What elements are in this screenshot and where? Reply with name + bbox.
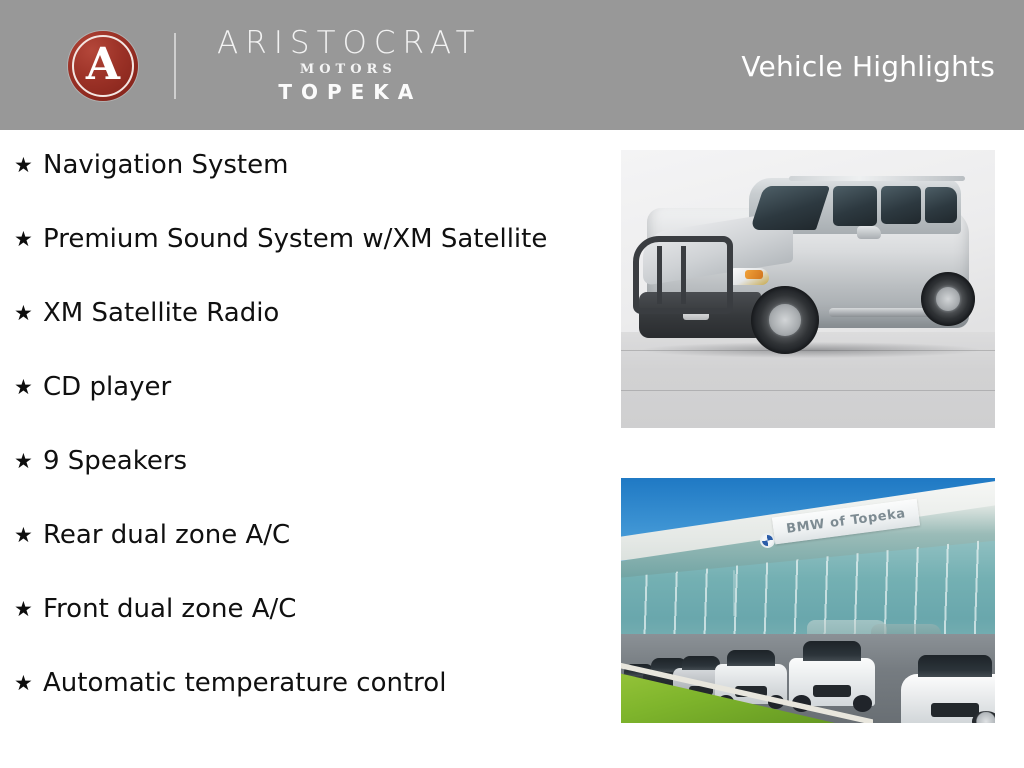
dealer-logo: A ARISTOCRAT MOTORS TOPEKA — [68, 30, 482, 102]
wordmark-motors: MOTORS — [295, 60, 397, 80]
side-mirror — [857, 226, 881, 239]
emblem-letter: A — [68, 31, 138, 101]
list-item-label: Premium Sound System w/XM Satellite — [43, 222, 592, 256]
roof-rail — [789, 176, 965, 181]
front-side-window — [833, 186, 877, 226]
rear-side-window — [881, 186, 921, 224]
list-item-label: XM Satellite Radio — [43, 296, 592, 330]
car-grille — [931, 703, 979, 717]
car-wheel — [853, 695, 872, 711]
car-roof — [803, 641, 862, 661]
car-wheel — [972, 711, 995, 723]
star-bullet-icon: ★ — [12, 296, 43, 330]
header-bar: A ARISTOCRAT MOTORS TOPEKA Vehicle Highl… — [0, 0, 1024, 130]
list-item-label: CD player — [43, 370, 592, 404]
dealer-wordmark: ARISTOCRAT MOTORS TOPEKA — [210, 27, 482, 104]
vehicle-photo — [621, 150, 995, 428]
wheel-hub — [936, 287, 961, 312]
vehicle-highlights-list: ★ Navigation System ★ Premium Sound Syst… — [12, 148, 592, 702]
car-roof — [918, 655, 991, 677]
star-bullet-icon: ★ — [12, 518, 43, 552]
wheel-hub — [769, 304, 800, 335]
list-item: ★ Premium Sound System w/XM Satellite — [12, 222, 592, 258]
front-wheel — [751, 286, 819, 354]
car-grille — [813, 685, 851, 697]
list-item: ★ Navigation System — [12, 148, 592, 184]
wordmark-brand: ARISTOCRAT — [210, 27, 482, 60]
reflected-light-pole — [733, 570, 735, 616]
brush-guard — [633, 236, 733, 314]
lot-vehicle-foreground — [901, 674, 995, 723]
list-item-label: 9 Speakers — [43, 444, 592, 478]
star-bullet-icon: ★ — [12, 444, 43, 478]
list-item-label: Automatic temperature control — [43, 666, 592, 700]
star-bullet-icon: ★ — [12, 222, 43, 256]
list-item: ★ XM Satellite Radio — [12, 296, 592, 332]
quarter-window — [925, 187, 957, 223]
list-item-label: Navigation System — [43, 148, 592, 182]
star-bullet-icon: ★ — [12, 370, 43, 404]
aristocrat-emblem-icon: A — [68, 31, 138, 101]
list-item-label: Rear dual zone A/C — [43, 518, 592, 552]
list-item-label: Front dual zone A/C — [43, 592, 592, 626]
car-roof — [727, 650, 776, 667]
star-bullet-icon: ★ — [12, 592, 43, 626]
page-title: Vehicle Highlights — [741, 50, 995, 83]
list-item: ★ CD player — [12, 370, 592, 406]
list-item: ★ Automatic temperature control — [12, 666, 592, 702]
list-item: ★ Front dual zone A/C — [12, 592, 592, 628]
wordmark-city: TOPEKA — [269, 80, 422, 105]
list-item: ★ 9 Speakers — [12, 444, 592, 480]
logo-divider — [174, 33, 176, 99]
star-bullet-icon: ★ — [12, 666, 43, 700]
star-bullet-icon: ★ — [12, 148, 43, 182]
turn-signal — [745, 270, 763, 279]
list-item: ★ Rear dual zone A/C — [12, 518, 592, 554]
dealership-photo: BMW of Topeka — [621, 478, 995, 723]
vehicle-shadow — [643, 342, 979, 358]
lot-vehicle — [789, 658, 875, 706]
rear-wheel — [921, 272, 975, 326]
